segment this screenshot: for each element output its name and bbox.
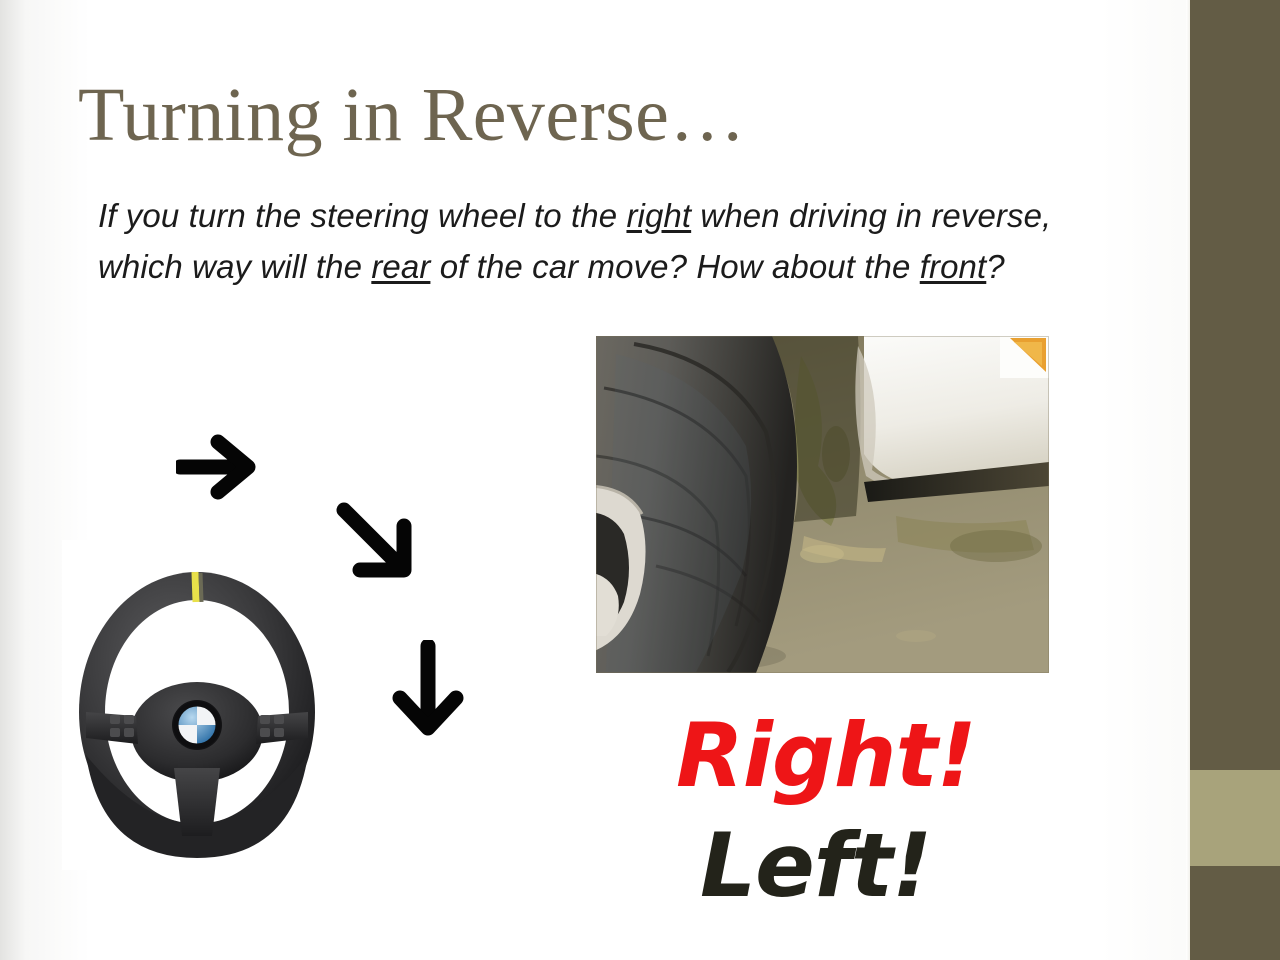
question-part-4: ? bbox=[986, 248, 1004, 285]
arrow-right-icon bbox=[176, 434, 268, 500]
arrow-down-right-icon bbox=[334, 500, 416, 582]
decorative-sidebar bbox=[1186, 0, 1280, 960]
answer-front: Left! bbox=[700, 818, 931, 914]
turned-tire-graphic bbox=[596, 336, 1049, 673]
question-emphasis-front: front bbox=[920, 248, 987, 285]
slide-canvas: Turning in Reverse… If you turn the stee… bbox=[0, 0, 1280, 960]
steering-wheel-image bbox=[62, 540, 332, 870]
question-text: If you turn the steering wheel to the ri… bbox=[98, 190, 1098, 292]
answer-rear: Right! bbox=[676, 708, 976, 804]
arrow-down-icon bbox=[390, 640, 466, 736]
steering-wheel-graphic bbox=[62, 540, 332, 870]
question-part-1: If you turn the steering wheel to the bbox=[98, 197, 626, 234]
question-part-3: of the car move? How about the bbox=[430, 248, 919, 285]
question-emphasis-rear: rear bbox=[371, 248, 430, 285]
turned-tire-image bbox=[596, 336, 1049, 673]
sidebar-light-band bbox=[1190, 770, 1280, 866]
slide-title: Turning in Reverse… bbox=[78, 72, 1138, 158]
question-emphasis-right: right bbox=[626, 197, 691, 234]
